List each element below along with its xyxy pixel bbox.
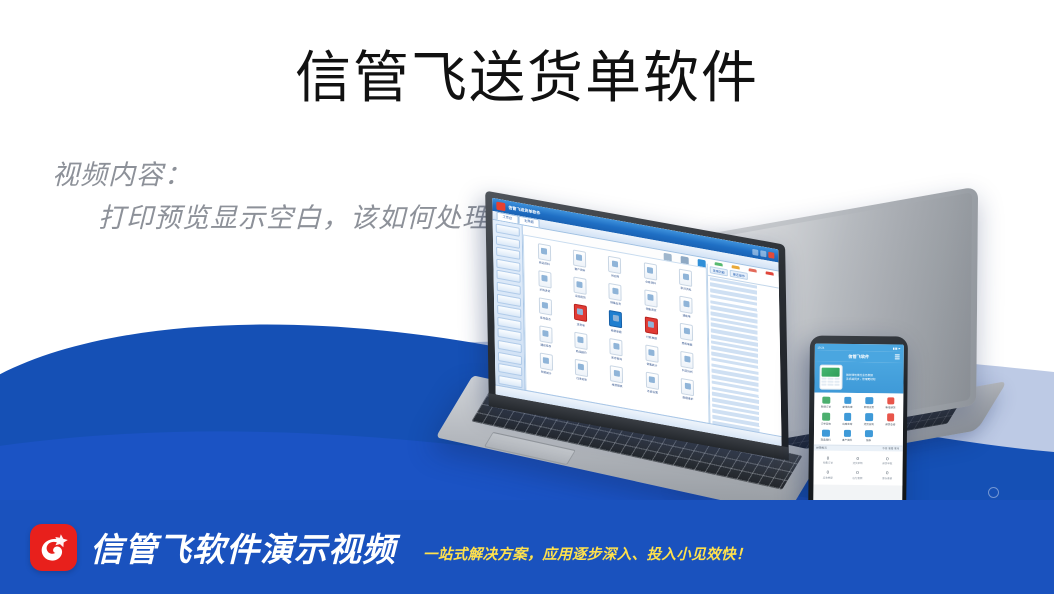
subtitle-block: 视频内容： 打印预览显示空白，该如何处理？ xyxy=(52,158,518,236)
phone-grid-label-6: 送货查询 xyxy=(859,422,880,426)
app-logo-icon xyxy=(496,201,505,211)
grid-item-5[interactable]: 采购进货 xyxy=(528,269,561,296)
grid-item-6[interactable]: 采购退货 xyxy=(564,275,597,302)
phone-stat-value-2: 0 xyxy=(873,456,903,461)
phone-stat-label-4: 应付金额 xyxy=(843,476,873,480)
phone-grid-label-4: 订单查询 xyxy=(816,421,837,425)
grid-item-11[interactable]: 送货单 xyxy=(564,302,597,329)
phone-stat-value-0: 0 xyxy=(813,455,843,460)
brand-block: 信管飞软件演示视频 一站式解决方案，应用逐步深入、投入小见效快！ xyxy=(30,523,751,571)
grid-icon-23 xyxy=(646,371,659,389)
sidebar-item-10[interactable] xyxy=(497,340,521,353)
phone-grid-item-1[interactable]: 新增出库 xyxy=(837,396,858,409)
grid-icon-16 xyxy=(574,331,587,349)
grid-icon-3 xyxy=(644,262,657,280)
footer-tagline: 一站式解决方案，应用逐步深入、投入小见效快！ xyxy=(423,543,751,564)
phone-grid-icon-7 xyxy=(887,413,895,421)
phone-filter-0[interactable]: 今日 xyxy=(882,448,887,451)
sidebar-item-0[interactable] xyxy=(495,223,519,236)
phone-grid-icon-4 xyxy=(822,413,830,421)
phone-stats-filters[interactable]: 今日 本周 本月 xyxy=(882,447,899,451)
grid-icon-7 xyxy=(609,283,622,301)
phone-grid-item-2[interactable]: 新增送货 xyxy=(859,397,880,410)
grid-icon-17 xyxy=(610,338,623,356)
grid-icon-19 xyxy=(681,350,694,368)
phone-stat-value-5: 0 xyxy=(872,470,902,475)
phone-grid-item-3[interactable]: 新增退货 xyxy=(880,397,901,410)
grid-item-10[interactable]: 库存盘点 xyxy=(529,296,562,323)
phone-grid-icon-10 xyxy=(865,430,873,438)
grid-icon-9 xyxy=(680,296,693,314)
phone-grid-item-9[interactable]: 客户资料 xyxy=(837,429,858,442)
phone-stat-0: 0销售订单 xyxy=(813,453,843,468)
app-sidebar[interactable] xyxy=(493,220,526,391)
grid-item-20[interactable]: 账款统计 xyxy=(530,350,563,377)
slide-canvas: 信管飞送货单软件 视频内容： 打印预览显示空白，该如何处理？ xyxy=(0,0,1054,594)
grid-item-19[interactable]: 利润分析 xyxy=(671,349,704,376)
phone-stat-4: 0应付金额 xyxy=(843,468,873,483)
grid-item-13[interactable]: 付款单据 xyxy=(635,315,668,342)
phone-grid-label-10: 报表 xyxy=(858,438,879,442)
right-panel-tab-1[interactable]: 最近操作 xyxy=(730,270,748,280)
grid-item-24[interactable]: 数据维护 xyxy=(671,376,704,403)
phone-grid-icon-8 xyxy=(822,429,830,437)
grid-icon-8 xyxy=(644,289,657,307)
grid-item-0[interactable]: 商品资料 xyxy=(528,241,561,268)
app-right-panel[interactable]: 常用功能 最近操作 xyxy=(707,264,782,438)
sidebar-item-2[interactable] xyxy=(496,247,520,260)
phone-function-grid[interactable]: 新增订单 新增出库 新增送货 新增退货 订单查询 出库查询 送货查询 退货查询 … xyxy=(813,393,903,446)
phone-stat-label-2: 退货单数 xyxy=(872,462,902,466)
phone-grid-label-8: 商品资料 xyxy=(815,438,836,442)
grid-item-7[interactable]: 销售出货 xyxy=(599,281,632,308)
phone-stat-5: 0库存金额 xyxy=(872,468,902,483)
grid-icon-13 xyxy=(645,317,658,335)
hamburger-menu-icon[interactable] xyxy=(894,354,899,359)
phone-stat-3: 0应收金额 xyxy=(813,467,843,482)
phone-stat-label-0: 销售订单 xyxy=(813,461,843,465)
phone-stats-grid: 0销售订单 0送货单数 0退货单数 0应收金额 0应付金额 0库存金额 xyxy=(813,450,902,485)
phone-header-title: 信管飞软件 xyxy=(848,353,869,359)
phone-status-icons: ▮▮▮ ▰ xyxy=(893,346,901,350)
phone-grid-label-0: 新增订单 xyxy=(816,405,837,409)
grid-icon-20 xyxy=(539,352,552,370)
phone-filter-1[interactable]: 本周 xyxy=(888,448,893,451)
grid-item-16[interactable]: 商品报价 xyxy=(565,330,598,357)
grid-item-3[interactable]: 仓库资料 xyxy=(634,260,667,287)
grid-icon-11 xyxy=(574,304,587,322)
phone-stat-1: 0送货单数 xyxy=(843,453,873,468)
device-mockup-group: 信管飞送货单软件 工作台 主界面 xyxy=(455,196,1054,526)
phone-banner: 随时随地掌控业务数据 手机端同步，管理更轻松 xyxy=(814,362,903,394)
minimize-icon[interactable] xyxy=(752,248,758,255)
grid-item-21[interactable]: 往来对账 xyxy=(565,357,598,384)
grid-icon-18 xyxy=(645,344,658,362)
phone-stat-label-3: 应收金额 xyxy=(813,476,843,480)
grid-icon-5 xyxy=(538,270,551,288)
phone-grid-label-2: 新增送货 xyxy=(859,405,880,409)
phone-grid-item-7[interactable]: 退货查询 xyxy=(880,413,901,426)
footer-bar: 信管飞软件演示视频 一站式解决方案，应用逐步深入、投入小见效快！ xyxy=(0,500,1054,594)
grid-icon-4 xyxy=(679,269,692,287)
phone-grid-icon-5 xyxy=(844,413,852,421)
grid-icon-24 xyxy=(681,378,694,396)
grid-icon-2 xyxy=(608,256,621,274)
window-controls[interactable] xyxy=(752,248,774,258)
subtitle-line-1: 视频内容： xyxy=(52,158,518,192)
grid-icon-10 xyxy=(539,298,552,316)
phone-grid-icon-3 xyxy=(887,397,895,405)
phone-grid-item-10[interactable]: 报表 xyxy=(858,430,879,443)
grid-item-1[interactable]: 客户资料 xyxy=(563,248,596,275)
grid-item-12[interactable]: 收款单据 xyxy=(600,309,633,336)
phone-filter-2[interactable]: 本月 xyxy=(894,448,899,451)
grid-icon-22 xyxy=(610,365,623,383)
close-icon[interactable] xyxy=(768,251,774,258)
phone-stat-label-1: 送货单数 xyxy=(843,461,873,465)
phone-grid-icon-9 xyxy=(843,430,851,438)
phone-grid-label-1: 新增出库 xyxy=(837,405,858,409)
phone-app-header: 信管飞软件 xyxy=(814,351,903,363)
grid-item-15[interactable]: 期初库存 xyxy=(529,323,562,350)
grid-item-2[interactable]: 供应商 xyxy=(599,254,632,281)
phone-banner-line-2: 手机端同步，管理更轻松 xyxy=(846,377,876,381)
phone-stat-label-5: 库存金额 xyxy=(872,476,902,480)
phone-grid-icon-1 xyxy=(844,396,852,404)
brand-bird-logo-icon xyxy=(30,524,77,571)
phone-stat-2: 0退货单数 xyxy=(872,453,902,468)
phone-grid-icon-6 xyxy=(865,413,873,421)
phone-stat-value-3: 0 xyxy=(813,470,843,475)
phone-grid-item-0[interactable]: 新增订单 xyxy=(816,396,837,409)
phone-grid-item-8[interactable]: 商品资料 xyxy=(815,429,836,442)
grid-icon-21 xyxy=(575,359,588,377)
grid-item-18[interactable]: 销售统计 xyxy=(635,342,668,369)
grid-item-14[interactable]: 费用单据 xyxy=(670,321,703,348)
phone-grid-item-5[interactable]: 出库查询 xyxy=(837,413,858,426)
grid-icon-1 xyxy=(573,249,586,267)
phone-grid-item-4[interactable]: 订单查询 xyxy=(816,413,837,426)
phone-screen: 10:24 ▮▮▮ ▰ 信管飞软件 随时随地掌控业务数据 手机端同步，管理更轻松 xyxy=(813,344,904,514)
grid-item-8[interactable]: 销售退货 xyxy=(635,288,668,315)
phone-grid-icon-2 xyxy=(865,397,873,405)
sidebar-item-5[interactable] xyxy=(496,282,520,295)
grid-icon-0 xyxy=(538,243,551,261)
grid-item-23[interactable]: 系统设置 xyxy=(636,370,669,397)
grid-icon-15 xyxy=(539,325,552,343)
sidebar-item-12[interactable] xyxy=(498,363,522,376)
maximize-icon[interactable] xyxy=(760,250,766,257)
phone-grid-item-6[interactable]: 送货查询 xyxy=(859,413,880,426)
brand-name: 信管飞软件演示视频 xyxy=(90,523,396,571)
grid-icon-14 xyxy=(680,323,693,341)
right-panel-list[interactable] xyxy=(708,275,782,439)
sidebar-item-7[interactable] xyxy=(497,305,521,318)
grid-item-9[interactable]: 调拨单 xyxy=(670,294,703,321)
right-panel-tab-0[interactable]: 常用功能 xyxy=(710,266,728,276)
phone-stats-title: 经营概况 xyxy=(816,446,826,450)
phone-grid-label-9: 客户资料 xyxy=(837,438,858,442)
phone-banner-text: 随时随地掌控业务数据 手机端同步，管理更轻松 xyxy=(846,373,876,381)
smartphone: 10:24 ▮▮▮ ▰ 信管飞软件 随时随地掌控业务数据 手机端同步，管理更轻松 xyxy=(808,335,908,524)
phone-status-time: 10:24 xyxy=(817,345,824,349)
phone-preview-card-icon xyxy=(819,365,842,390)
grid-item-17[interactable]: 库存查询 xyxy=(600,336,633,363)
grid-icon-12 xyxy=(609,310,622,328)
grid-item-4[interactable]: 职员资料 xyxy=(669,267,702,294)
grid-item-22[interactable]: 经营报表 xyxy=(601,363,634,390)
phone-grid-label-3: 新增退货 xyxy=(880,405,901,409)
phone-grid-icon-0 xyxy=(822,396,830,404)
phone-stat-value-4: 0 xyxy=(843,470,873,475)
phone-stat-value-1: 0 xyxy=(843,456,873,461)
grid-icon-6 xyxy=(573,277,586,295)
phone-grid-label-7: 退货查询 xyxy=(880,422,901,426)
page-title: 信管飞送货单软件 xyxy=(0,46,1054,112)
phone-grid-label-5: 出库查询 xyxy=(837,421,858,425)
